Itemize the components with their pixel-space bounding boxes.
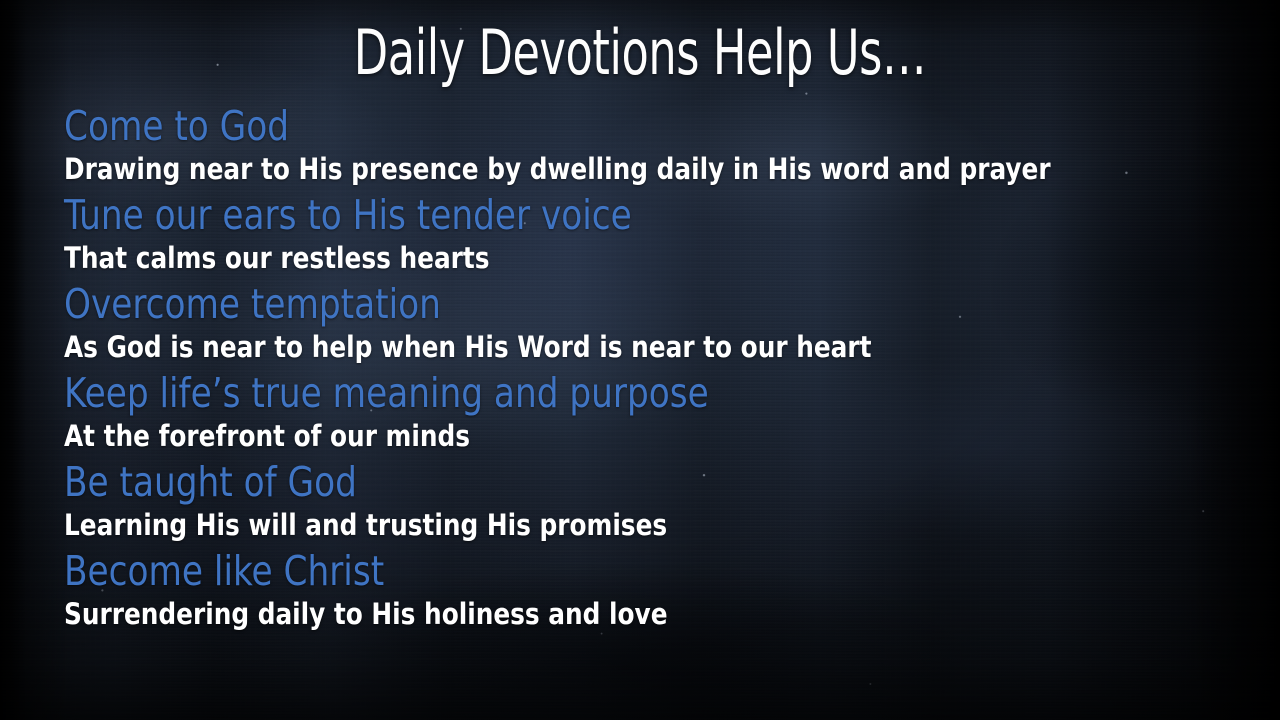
devotion-point-subtext: That calms our restless hearts bbox=[64, 237, 1185, 279]
devotion-point-heading: Overcome temptation bbox=[64, 282, 1161, 326]
devotion-point: Come to God Drawing near to His presence… bbox=[64, 104, 1244, 193]
devotion-point-heading: Become like Christ bbox=[64, 549, 1161, 593]
devotion-point: Be taught of God Learning His will and t… bbox=[64, 460, 1244, 549]
devotion-point: Keep life’s true meaning and purpose At … bbox=[64, 371, 1244, 460]
devotion-point: Tune our ears to His tender voice That c… bbox=[64, 193, 1244, 282]
devotion-point-subtext: Drawing near to His presence by dwelling… bbox=[64, 148, 1185, 190]
devotion-point-heading: Be taught of God bbox=[64, 460, 1161, 504]
presentation-slide: Daily Devotions Help Us… Come to God Dra… bbox=[0, 0, 1280, 720]
devotion-point: Become like Christ Surrendering daily to… bbox=[64, 549, 1244, 638]
devotion-points-list: Come to God Drawing near to His presence… bbox=[64, 104, 1244, 638]
devotion-point-subtext: At the forefront of our minds bbox=[64, 415, 1185, 457]
devotion-point-subtext: As God is near to help when His Word is … bbox=[64, 326, 1185, 368]
devotion-point: Overcome temptation As God is near to he… bbox=[64, 282, 1244, 371]
devotion-point-subtext: Learning His will and trusting His promi… bbox=[64, 504, 1185, 546]
devotion-point-heading: Come to God bbox=[64, 104, 1161, 148]
devotion-point-heading: Keep life’s true meaning and purpose bbox=[64, 371, 1161, 415]
slide-content: Daily Devotions Help Us… Come to God Dra… bbox=[0, 0, 1280, 720]
slide-title: Daily Devotions Help Us… bbox=[128, 22, 1152, 84]
devotion-point-subtext: Surrendering daily to His holiness and l… bbox=[64, 593, 1185, 635]
devotion-point-heading: Tune our ears to His tender voice bbox=[64, 193, 1161, 237]
